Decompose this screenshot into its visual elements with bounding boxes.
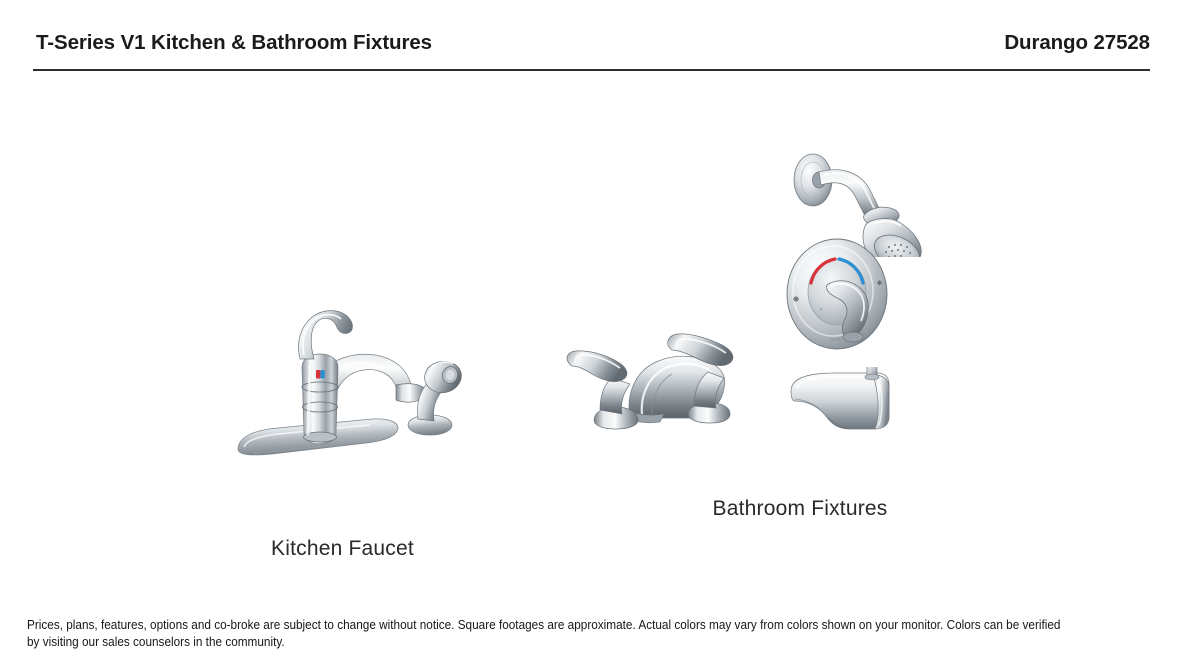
page-footer: Prices, plans, features, options and co-… — [27, 617, 1074, 650]
fixtures-stage: Kitchen Faucet — [0, 72, 1182, 542]
svg-text:✳: ✳ — [819, 307, 823, 313]
product-group-kitchen: Kitchen Faucet — [150, 112, 535, 532]
shower-valve-trim-image: ✳ moen — [775, 237, 905, 352]
page-header: T-Series V1 Kitchen & Bathroom Fixtures … — [0, 0, 1182, 72]
caption-kitchen-faucet: Kitchen Faucet — [150, 537, 535, 561]
temperature-indicator — [316, 370, 325, 379]
tub-spout-image — [785, 367, 915, 442]
caption-bathroom-fixtures: Bathroom Fixtures — [540, 497, 1060, 521]
product-group-bathroom: ✳ moen — [540, 92, 1060, 532]
community-name: Durango 27528 — [1004, 31, 1150, 55]
header-divider — [33, 69, 1150, 71]
page-title: T-Series V1 Kitchen & Bathroom Fixtures — [36, 31, 432, 55]
svg-text:moen: moen — [829, 337, 842, 343]
disclaimer-text: Prices, plans, features, options and co-… — [27, 617, 1074, 650]
bathroom-faucet-image — [560, 322, 760, 432]
kitchen-faucet-image — [230, 307, 470, 472]
